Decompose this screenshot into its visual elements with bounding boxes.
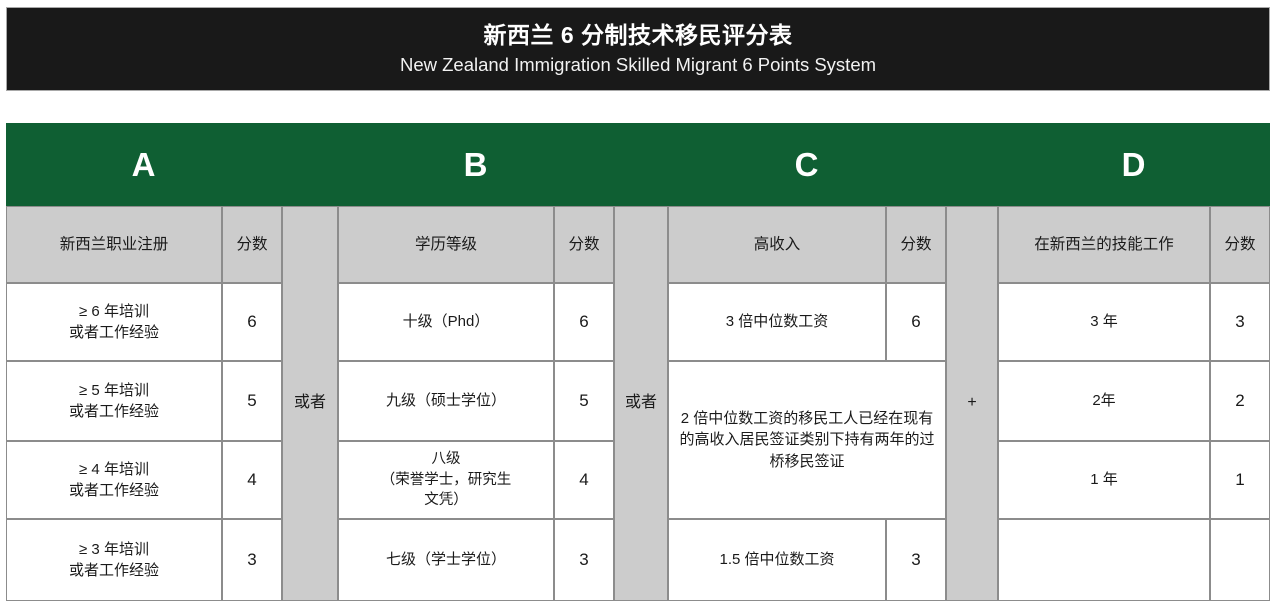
group-label-c: C (668, 123, 946, 206)
cell-a-row4-line2: 或者工作经验 (69, 562, 159, 579)
cell-d-row3-score: 1 (1210, 441, 1270, 519)
cell-b-row2-score: 5 (554, 361, 614, 441)
column-header-c-score: 分数 (886, 206, 946, 283)
cell-c-row3-label: 1.5 倍中位数工资 (668, 519, 886, 601)
cell-a-row2-score: 5 (222, 361, 282, 441)
title-banner: 新西兰 6 分制技术移民评分表 New Zealand Immigration … (6, 7, 1270, 91)
separator-b-c: 或者 (614, 206, 668, 601)
cell-c-row1-score: 6 (886, 283, 946, 361)
cell-a-row3-score: 4 (222, 441, 282, 519)
separator-a-b: 或者 (282, 206, 338, 601)
cell-d-row4-score (1210, 519, 1270, 601)
cell-b-row2-label: 九级（硕士学位） (338, 361, 554, 441)
cell-b-row4-score: 3 (554, 519, 614, 601)
cell-a-row2-line1: ≥ 5 年培训 (79, 382, 149, 399)
cell-d-row2-label: 2年 (998, 361, 1210, 441)
cell-a-row1-score: 6 (222, 283, 282, 361)
column-header-a: 新西兰职业注册 (6, 206, 222, 283)
points-grid: 新西兰职业注册 分数 ≥ 6 年培训 或者工作经验 6 ≥ 5 年培训 或者工作… (6, 206, 1270, 601)
cell-b-row3-label: 八级 （荣誉学士，研究生 文凭） (338, 441, 554, 519)
cell-a-row3-line2: 或者工作经验 (69, 482, 159, 499)
cell-c-row1-label: 3 倍中位数工资 (668, 283, 886, 361)
cell-b-row4-label: 七级（学士学位） (338, 519, 554, 601)
cell-a-row4-score: 3 (222, 519, 282, 601)
cell-d-row2-score: 2 (1210, 361, 1270, 441)
group-label-b: B (338, 123, 614, 206)
column-header-c: 高收入 (668, 206, 886, 283)
column-header-a-score: 分数 (222, 206, 282, 283)
cell-b-row3-line2: （荣誉学士，研究生 (381, 472, 512, 488)
page-title-chinese: 新西兰 6 分制技术移民评分表 (483, 21, 792, 50)
cell-d-row4-label (998, 519, 1210, 601)
cell-a-row4-label: ≥ 3 年培训 或者工作经验 (6, 519, 222, 601)
cell-d-row3-label: 1 年 (998, 441, 1210, 519)
column-header-b: 学历等级 (338, 206, 554, 283)
cell-a-row1-label: ≥ 6 年培训 或者工作经验 (6, 283, 222, 361)
column-header-d-score: 分数 (1210, 206, 1270, 283)
group-label-a: A (6, 123, 282, 206)
cell-d-row1-score: 3 (1210, 283, 1270, 361)
column-header-d: 在新西兰的技能工作 (998, 206, 1210, 283)
cell-c-row3-score: 3 (886, 519, 946, 601)
group-label-d: D (998, 123, 1270, 206)
cell-b-row1-label: 十级（Phd） (338, 283, 554, 361)
points-table: A B C D 新西兰职业注册 分数 ≥ 6 年培训 或者工作经验 6 ≥ 5 … (6, 123, 1270, 601)
cell-a-row2-label: ≥ 5 年培训 或者工作经验 (6, 361, 222, 441)
cell-a-row1-line2: 或者工作经验 (69, 324, 159, 341)
cell-c-row2-label: 2 倍中位数工资的移民工人已经在现有的高收入居民签证类别下持有两年的过桥移民签证 (668, 361, 946, 519)
cell-a-row1-line1: ≥ 6 年培训 (79, 303, 149, 320)
cell-a-row4-line1: ≥ 3 年培训 (79, 541, 149, 558)
group-header-band: A B C D (6, 123, 1270, 206)
separator-c-d: + (946, 206, 998, 601)
cell-b-row3-line1: 八级 (432, 451, 461, 467)
page-title-english: New Zealand Immigration Skilled Migrant … (400, 53, 876, 77)
cell-b-row3-line3: 文凭） (424, 492, 468, 508)
column-header-b-score: 分数 (554, 206, 614, 283)
cell-b-row3-score: 4 (554, 441, 614, 519)
cell-a-row3-line1: ≥ 4 年培训 (79, 461, 149, 478)
cell-a-row2-line2: 或者工作经验 (69, 403, 159, 420)
cell-d-row1-label: 3 年 (998, 283, 1210, 361)
cell-a-row3-label: ≥ 4 年培训 或者工作经验 (6, 441, 222, 519)
cell-b-row1-score: 6 (554, 283, 614, 361)
